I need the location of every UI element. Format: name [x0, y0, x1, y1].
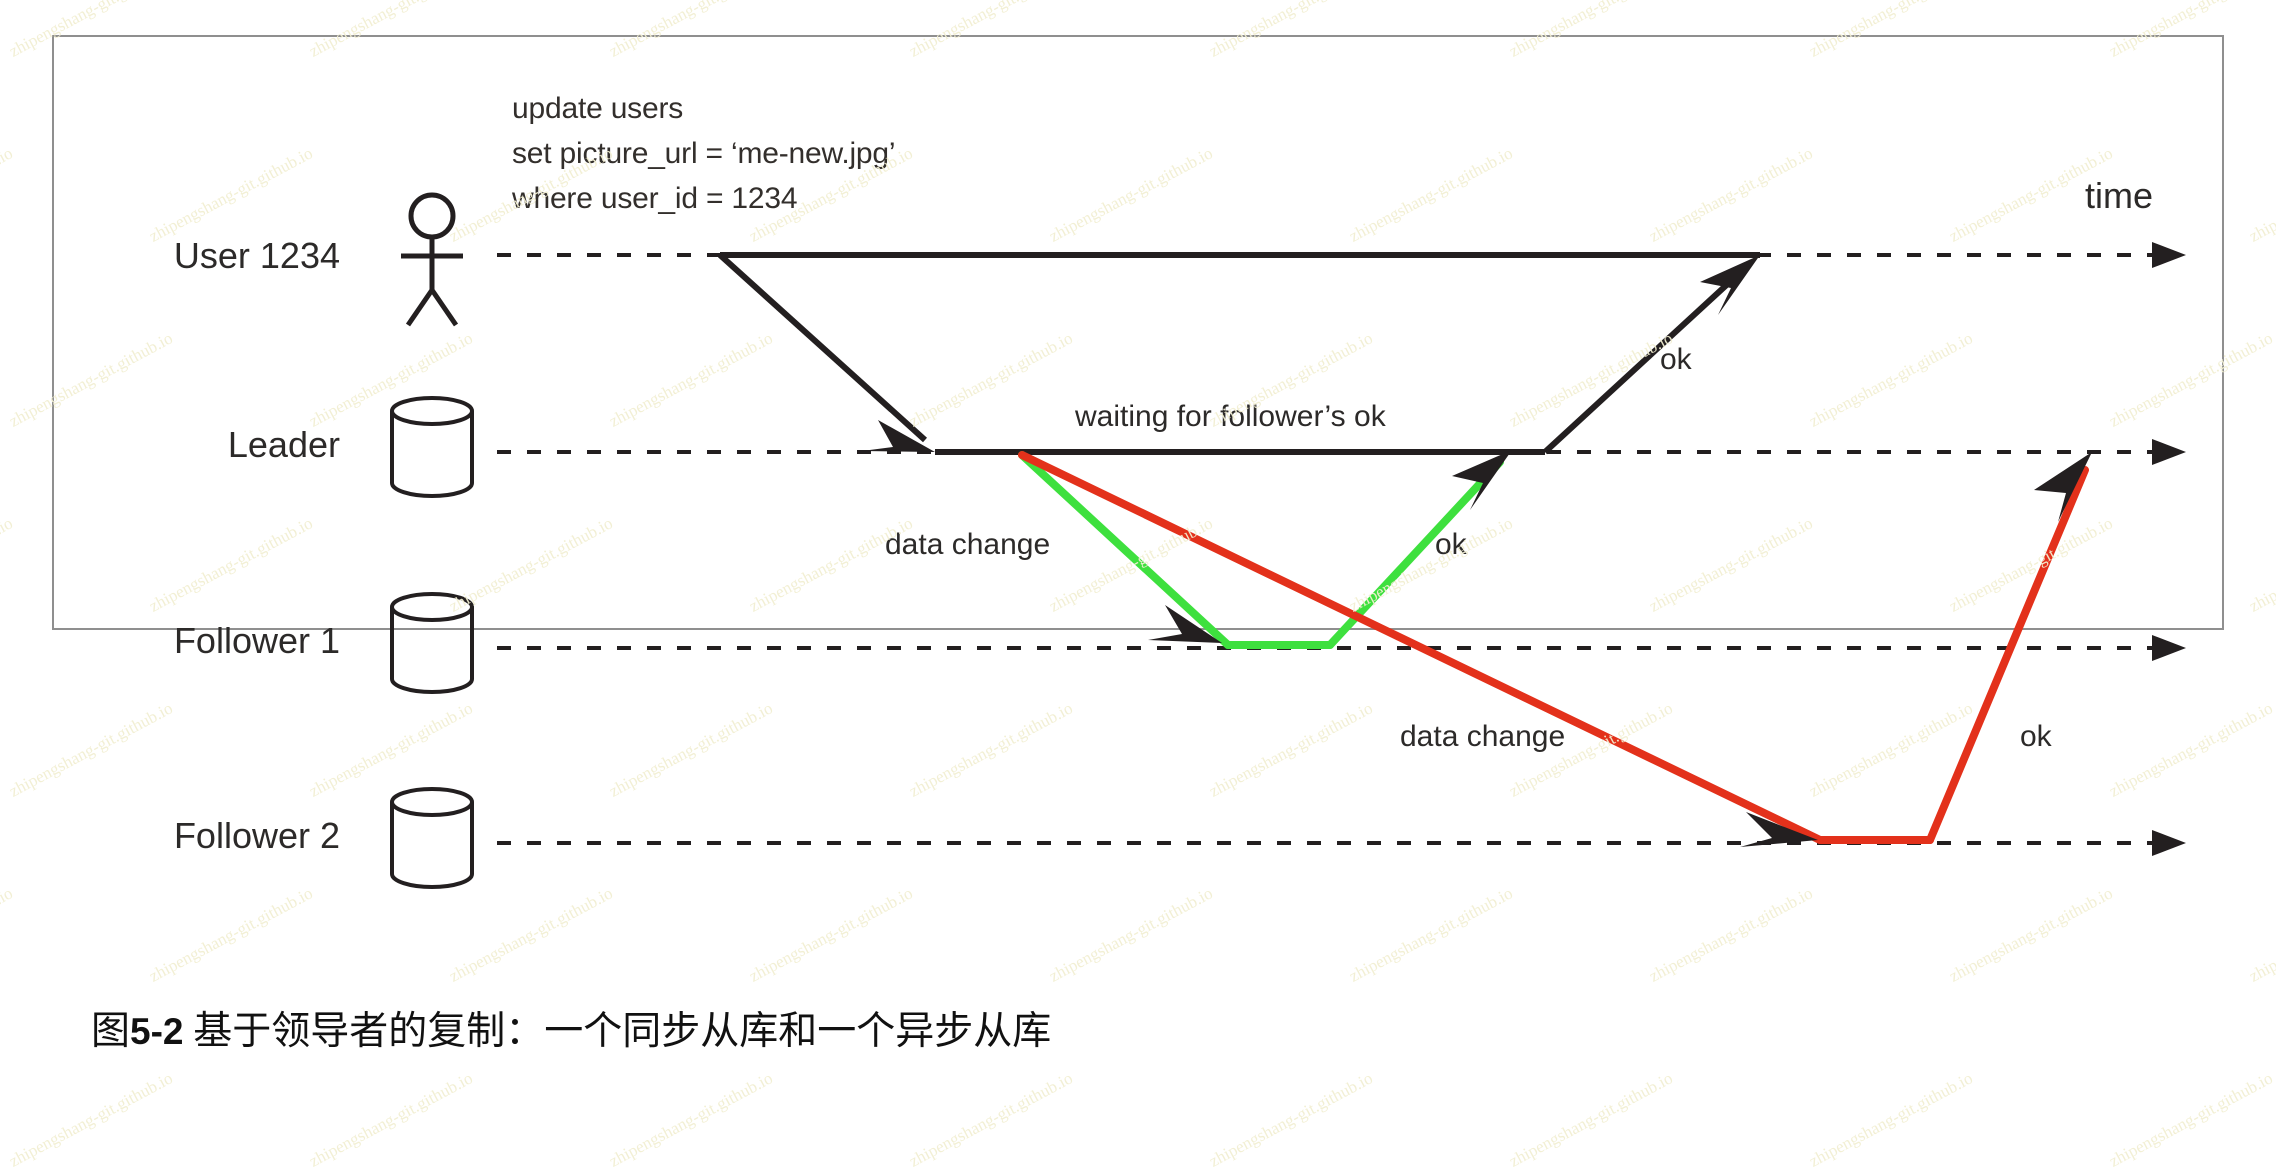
- database-cylinder-icon-follower2: [392, 789, 472, 887]
- message-label-ok-async: ok: [2020, 720, 2052, 754]
- stick-figure-actor-icon: [401, 195, 463, 325]
- watermark-text: zhipengshang-git.github.io: [1206, 1068, 1376, 1171]
- message-label-waiting: waiting for follower’s ok: [1075, 400, 1386, 434]
- sql-note-line-2: set picture_url = ‘me-new.jpg’: [512, 137, 895, 171]
- message-label-ok-user: ok: [1660, 343, 1692, 377]
- participant-label-leader: Leader: [100, 424, 340, 466]
- message-label-ok-sync: ok: [1435, 528, 1467, 562]
- message-follower2-to-leader-ok: [1930, 470, 2085, 840]
- sql-note-line-1: update users: [512, 92, 683, 126]
- participant-label-user: User 1234: [100, 235, 340, 277]
- time-axis-label: time: [2085, 175, 2153, 217]
- database-cylinder-icon-leader: [392, 398, 472, 496]
- caption-text: 基于领导者的复制：一个同步从库和一个异步从库: [184, 1010, 1052, 1053]
- watermark-text: zhipengshang-git.github.io: [1506, 1068, 1676, 1171]
- figure-root: zhipengshang-git.github.iozhipengshang-g…: [0, 0, 2276, 1048]
- caption-prefix: 图: [91, 1010, 130, 1053]
- watermark-text: zhipengshang-git.github.io: [2106, 1068, 2276, 1171]
- sql-note-line-3: where user_id = 1234: [512, 182, 797, 216]
- message-label-data-change-async: data change: [1400, 720, 1565, 754]
- arrowhead-follower2-to-leader: [2034, 452, 2092, 522]
- database-cylinder-icon-follower1: [392, 594, 472, 692]
- arrowhead-leader-to-user-ok: [1700, 255, 1760, 315]
- lifeline-end-arrowheads: [2152, 242, 2186, 856]
- message-leader-to-user-ok: [1545, 268, 1745, 452]
- message-label-data-change-sync: data change: [885, 528, 1050, 562]
- caption-number: 5-2: [130, 1011, 183, 1052]
- sequence-diagram-canvas: [0, 0, 2276, 1048]
- participant-label-follower1: Follower 1: [100, 620, 340, 662]
- figure-caption: 图5-2 基于领导者的复制：一个同步从库和一个异步从库: [52, 955, 1051, 1101]
- participant-label-follower2: Follower 2: [100, 815, 340, 857]
- watermark-text: zhipengshang-git.github.io: [1806, 1068, 1976, 1171]
